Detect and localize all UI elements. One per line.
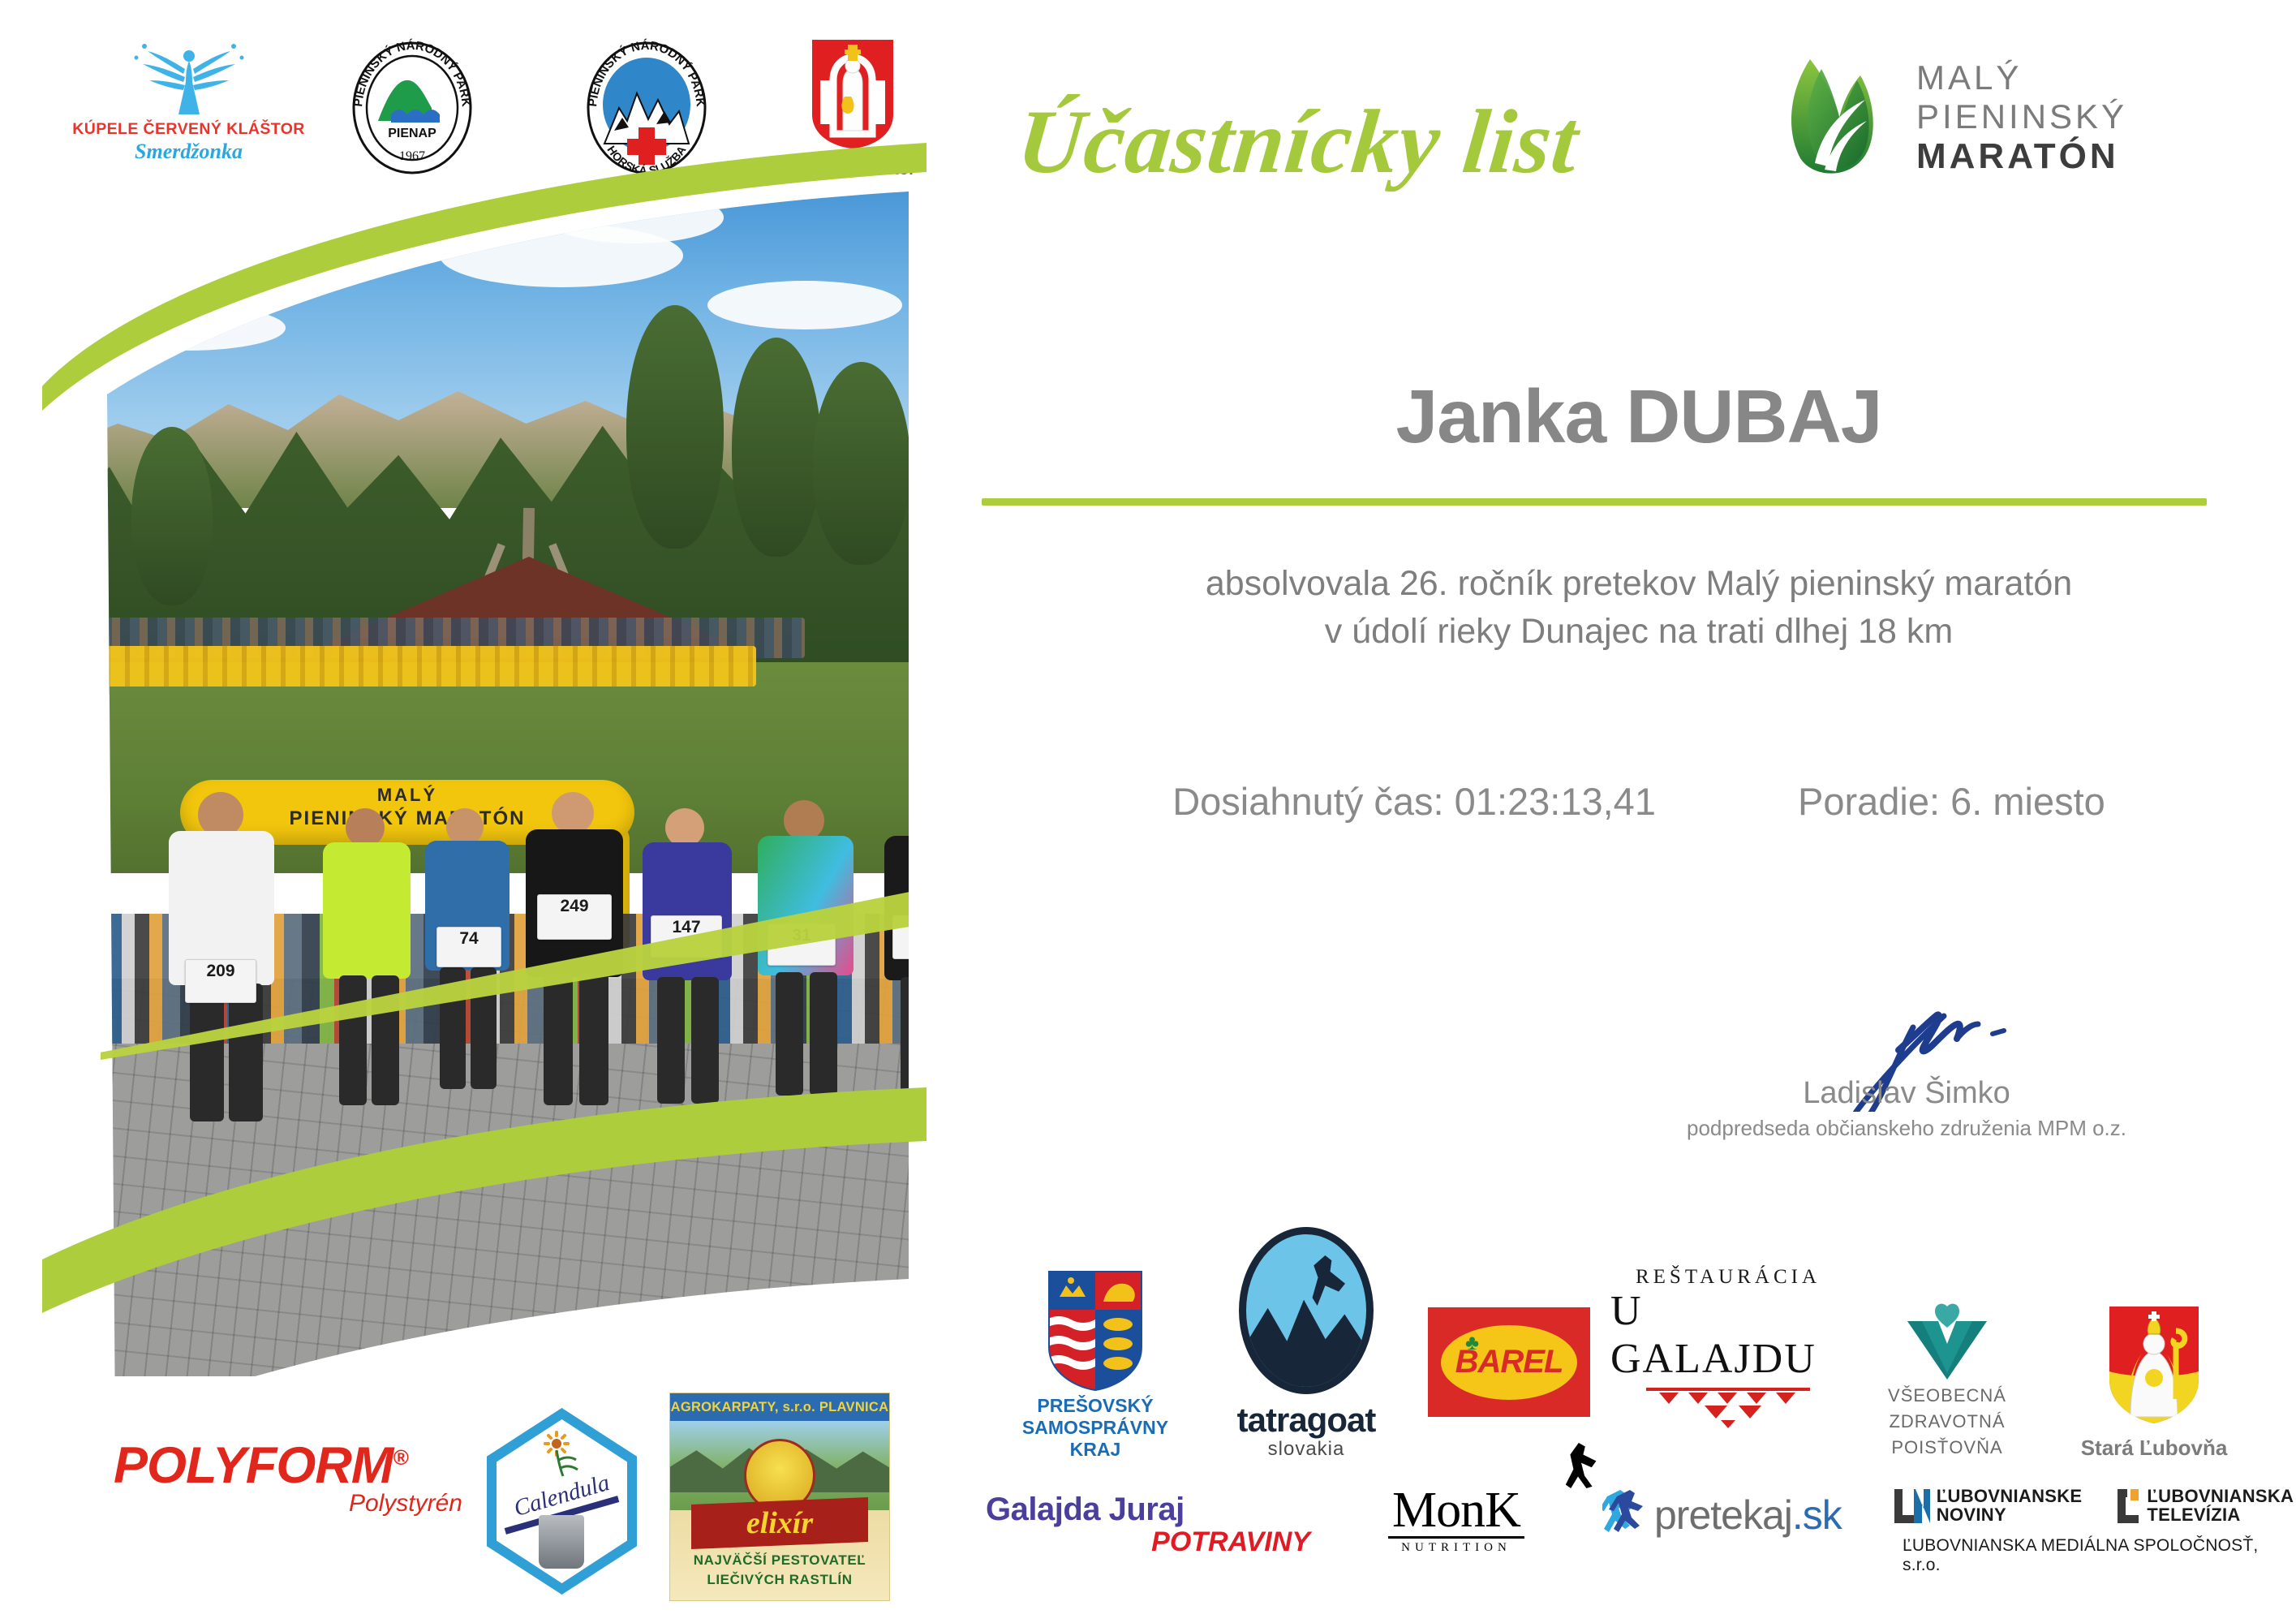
signature-name: Ladislav Šimko — [1647, 1076, 2166, 1111]
angel-fountain-icon — [120, 37, 258, 118]
clover-icon: ♣ — [1465, 1330, 1479, 1355]
lt-line-2: TELEVÍZIA — [2147, 1505, 2294, 1524]
sponsor-galajda-juraj: Galajda Juraj POTRAVINY — [986, 1477, 1310, 1558]
recipient-name: Janka DUBAJ — [1006, 373, 2272, 460]
u-galajdu-line-1: REŠTAURÁCIA — [1636, 1266, 1821, 1289]
u-galajdu-line-2: U GALAJDU — [1610, 1287, 1846, 1383]
bib-number: 74 — [436, 927, 501, 967]
mountain-leaf-icon — [1765, 53, 1898, 183]
pretekaj-suffix: .sk — [1792, 1492, 1842, 1538]
rank-label: Poradie: — [1798, 780, 1940, 823]
results-row: Dosiahnutý čas: 01:23:13,41 Poradie: 6. … — [1006, 779, 2272, 824]
sponsor-agrokarpaty: AGROKARPATY, s.r.o. PLAVNICA elixír NAJV… — [669, 1393, 890, 1601]
lubovnianska-televizia: ĽUBOVNIANSKA TELEVÍZIA — [2103, 1487, 2294, 1525]
signature-role: podpredseda občianskeho združenia MPM o.… — [1647, 1116, 2166, 1141]
two-runners-icon — [1602, 1488, 1646, 1542]
runner: 74 — [411, 808, 524, 1117]
stara-lubovna-label: Stará Ľubovňa — [2081, 1436, 2228, 1461]
bishop-coat-of-arms-icon — [2106, 1303, 2202, 1429]
monk-wordmark: MonK — [1392, 1482, 1520, 1539]
elixir-wordmark: elixír — [746, 1505, 813, 1541]
pretekaj-wordmark: pretekaj.sk — [1654, 1492, 1842, 1539]
sponsor-polyform: POLYFORM® Polystyrén — [114, 1436, 462, 1518]
folk-ornament-icon — [1643, 1386, 1813, 1428]
certificate-description: absolvovala 26. ročník pretekov Malý pie… — [1006, 560, 2272, 657]
bib-number: 209 — [185, 959, 256, 1003]
label-line-1: PREŠOVSKÝ — [1022, 1395, 1168, 1417]
presovsky-kraj-label: PREŠOVSKÝ SAMOSPRÁVNY KRAJ — [1022, 1395, 1168, 1461]
lms-footer: ĽUBOVNIANSKA MEDIÁLNA SPOLOČNOSŤ, s.r.o. — [1903, 1536, 2284, 1575]
goat-mountain-oval-icon — [1239, 1227, 1374, 1394]
partner-label-line1: KÚPELE ČERVENÝ KLÁŠTOR — [72, 120, 305, 139]
sponsor-calendula: Calendula — [487, 1408, 637, 1595]
sponsor-row-secondary: Galajda Juraj POTRAVINY MonK NUTRITION p… — [986, 1477, 2284, 1615]
marigold-mortar-icon — [535, 1431, 587, 1478]
sponsor-stara-lubovna: Stará Ľubovňa — [2049, 1303, 2259, 1461]
galajda-line-2: POTRAVINY — [1151, 1526, 1310, 1558]
ln-line-2: NOVINY — [1937, 1505, 2083, 1524]
runner: 209 — [148, 792, 302, 1141]
signature-block: Ladislav Šimko podpredseda občianskeho z… — [1647, 1006, 2166, 1141]
tatragoat-wordmark: tatragoat — [1237, 1401, 1376, 1440]
registered-icon: ® — [393, 1445, 407, 1470]
tatragoat-subtitle: slovakia — [1268, 1438, 1345, 1461]
certificate-page: KÚPELE ČERVENÝ KLÁŠTOR Smerdžonka PIENIN… — [0, 0, 2296, 1623]
sponsor-monk-nutrition: MonK NUTRITION — [1310, 1477, 1602, 1555]
sponsor-pretekaj-sk: pretekaj.sk — [1602, 1477, 1903, 1542]
finish-time-value: 01:23:13,41 — [1455, 780, 1656, 823]
sponsor-presovsky-kraj: PREŠOVSKÝ SAMOSPRÁVNY KRAJ — [986, 1269, 1205, 1461]
rank-value: 6. miesto — [1950, 780, 2105, 823]
galajda-line-1: Galajda Juraj — [986, 1492, 1185, 1528]
brand-logo: MALÝ PIENINSKÝ MARATÓN — [1765, 49, 2251, 187]
finish-time-label: Dosiahnutý čas: — [1172, 780, 1443, 823]
sponsor-u-galajdu: REŠTAURÁCIA U GALAJDU — [1610, 1266, 1846, 1461]
label-line-2: SAMOSPRÁVNY — [1022, 1417, 1168, 1439]
runner: 147 — [626, 808, 748, 1133]
finish-time: Dosiahnutý čas: 01:23:13,41 — [1172, 779, 1656, 824]
brand-line-2: PIENINSKÝ — [1916, 100, 2127, 134]
monk-subtitle: NUTRITION — [1401, 1541, 1511, 1555]
label-line-3: KRAJ — [1022, 1439, 1168, 1461]
sponsor-barel: ♣ BAREL — [1408, 1307, 1610, 1461]
divider — [982, 498, 2207, 506]
yellow-chairs — [91, 646, 756, 687]
oval-seal-icon: PIENINSKÝ NÁRODNÝ PARK PIENAP 1967 — [347, 37, 477, 174]
label-line-3: POISŤOVŇA — [1888, 1435, 2006, 1461]
oval-seal-red-cross-icon: PIENINSKÝ NÁRODNÝ PARK HORSKÁ SLUŽBA — [582, 37, 712, 174]
lt-line-1: ĽUBOVNIANSKA — [2147, 1487, 2294, 1505]
ln-line-1: ĽUBOVNIANSKE — [1937, 1487, 2083, 1505]
coat-of-arms-icon — [1047, 1269, 1144, 1395]
partner-kupele-cerveny-klastor: KÚPELE ČERVENÝ KLÁŠTOR Smerdžonka — [89, 37, 288, 164]
ln-logo-icon — [1893, 1487, 1930, 1523]
polyform-word: POLYFORM — [114, 1437, 393, 1494]
svg-text:PIENAP: PIENAP — [389, 127, 437, 140]
brand-line-3: MARATÓN — [1916, 139, 2127, 174]
runner: 31 — [742, 800, 871, 1125]
partner-horska-sluzba: PIENINSKÝ NÁRODNÝ PARK HORSKÁ SLUŽBA — [537, 37, 757, 174]
bib-number: 249 — [537, 894, 612, 940]
marathon-photo: MALÝ PIENINSKÝ MARATÓN 209 — [58, 159, 909, 1376]
brand-line-1: MALÝ — [1916, 61, 2127, 95]
agrokarpaty-top-label: AGROKARPATY, s.r.o. PLAVNICA — [671, 1400, 889, 1415]
sponsor-tatragoat: tatragoat slovakia — [1205, 1227, 1408, 1461]
label-line-1: VŠEOBECNÁ — [1888, 1383, 2006, 1409]
lubovnianske-noviny: ĽUBOVNIANSKE NOVINY — [1893, 1487, 2083, 1525]
rank: Poradie: 6. miesto — [1798, 779, 2105, 824]
page-title: Účastnícky list — [1011, 69, 1724, 215]
partner-pieninsky-narodny-park: PIENINSKÝ NÁRODNÝ PARK PIENAP 1967 — [303, 37, 522, 174]
coat-of-arms-icon — [809, 37, 896, 154]
sponsor-vszp: VŠEOBECNÁ ZDRAVOTNÁ POISŤOVŇA — [1846, 1302, 2049, 1461]
polyform-wordmark: POLYFORM® — [114, 1436, 462, 1495]
description-line-1: absolvovala 26. ročník pretekov Malý pie… — [1006, 560, 2272, 608]
agrokarpaty-line-2: LIEČIVÝCH RASTLÍN — [670, 1572, 889, 1588]
sponsor-lubovnianska-medialna: ĽUBOVNIANSKE NOVINY ĽUBOVNIANSKA TELEVÍZ… — [1903, 1477, 2284, 1575]
pretekaj-word: pretekaj — [1654, 1492, 1792, 1538]
agrokarpaty-line-1: NAJVÄČŠÍ PESTOVATEĽ — [670, 1552, 889, 1569]
label-line-2: ZDRAVOTNÁ — [1888, 1409, 2006, 1435]
vszp-label: VŠEOBECNÁ ZDRAVOTNÁ POISŤOVŇA — [1888, 1383, 2006, 1461]
sponsor-row-primary: PREŠOVSKÝ SAMOSPRÁVNY KRAJ tatragoat slo… — [986, 1246, 2276, 1461]
lt-logo-icon — [2103, 1487, 2140, 1523]
heart-chevron-icon — [1903, 1302, 1992, 1383]
description-line-2: v údolí rieky Dunajec na trati dlhej 18 … — [1006, 608, 2272, 656]
